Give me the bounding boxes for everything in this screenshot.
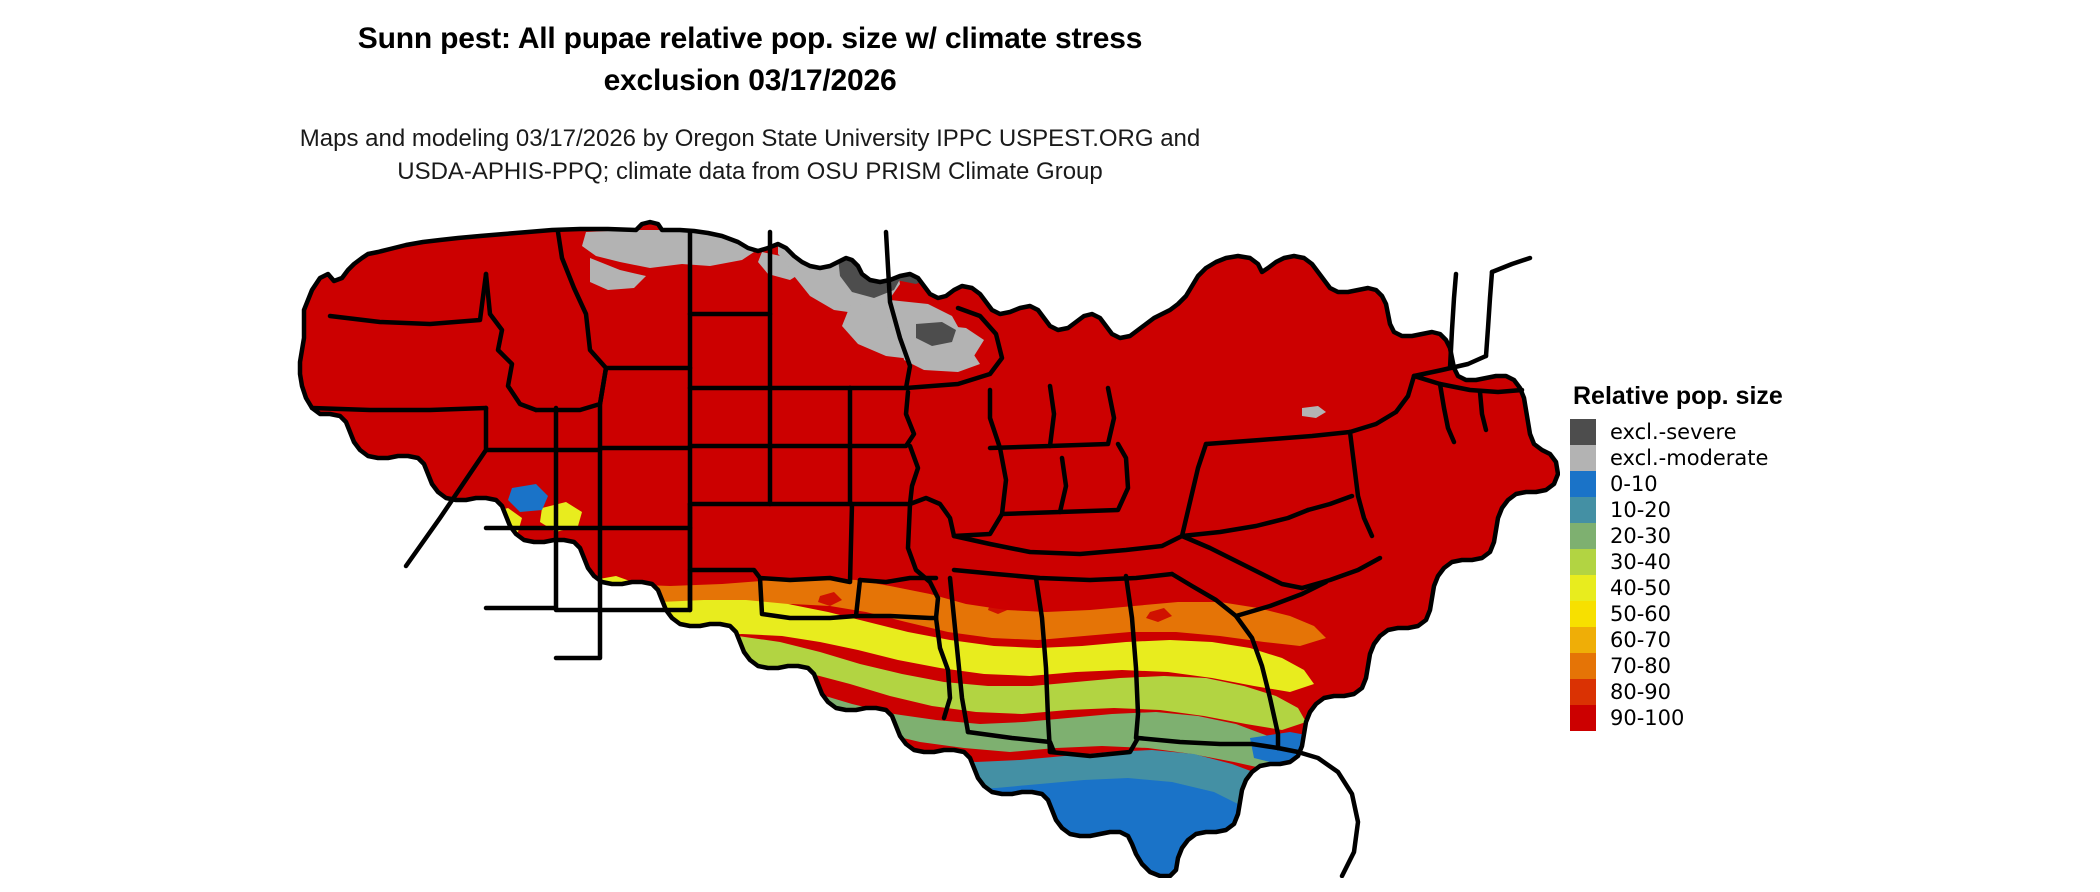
- legend-color-swatch: [1570, 627, 1596, 653]
- subtitle-line-1: Maps and modeling 03/17/2026 by Oregon S…: [0, 122, 1500, 155]
- legend-color-swatch: [1570, 419, 1596, 445]
- legend-item[interactable]: 40-50: [1570, 575, 1970, 601]
- legend-color-swatch: [1570, 575, 1596, 601]
- map-legend: Relative pop. size excl.-severeexcl.-mod…: [1570, 382, 1970, 731]
- legend-color-swatch: [1570, 653, 1596, 679]
- legend-item-label: 40-50: [1610, 575, 1671, 601]
- page-title: Sunn pest: All pupae relative pop. size …: [0, 18, 1500, 102]
- legend-color-swatch: [1570, 679, 1596, 705]
- title-line-1: Sunn pest: All pupae relative pop. size …: [0, 18, 1500, 60]
- us-choropleth-map: [290, 218, 1560, 878]
- legend-item[interactable]: 50-60: [1570, 601, 1970, 627]
- title-line-2: exclusion 03/17/2026: [0, 60, 1500, 102]
- legend-item[interactable]: excl.-severe: [1570, 419, 1970, 445]
- legend-item[interactable]: 30-40: [1570, 549, 1970, 575]
- map-canvas: [290, 218, 1560, 878]
- legend-color-swatch: [1570, 601, 1596, 627]
- legend-color-swatch: [1570, 523, 1596, 549]
- legend-item-label: 20-30: [1610, 523, 1671, 549]
- legend-item-label: 30-40: [1610, 549, 1671, 575]
- legend-item[interactable]: 10-20: [1570, 497, 1970, 523]
- legend-item-list: excl.-severeexcl.-moderate0-1010-2020-30…: [1570, 419, 1970, 731]
- legend-title: Relative pop. size: [1573, 382, 1970, 411]
- legend-item-label: 90-100: [1610, 705, 1684, 731]
- legend-item-label: excl.-severe: [1610, 419, 1737, 445]
- legend-item-label: 10-20: [1610, 497, 1671, 523]
- legend-color-swatch: [1570, 471, 1596, 497]
- map-attribution: Maps and modeling 03/17/2026 by Oregon S…: [0, 122, 1500, 188]
- legend-item-label: 70-80: [1610, 653, 1671, 679]
- legend-item[interactable]: 90-100: [1570, 705, 1970, 731]
- legend-item-label: 60-70: [1610, 627, 1671, 653]
- map-page: Sunn pest: All pupae relative pop. size …: [0, 0, 2100, 892]
- legend-item-label: excl.-moderate: [1610, 445, 1768, 471]
- legend-item[interactable]: 60-70: [1570, 627, 1970, 653]
- subtitle-line-2: USDA-APHIS-PPQ; climate data from OSU PR…: [0, 155, 1500, 188]
- legend-item-label: 0-10: [1610, 471, 1658, 497]
- legend-color-swatch: [1570, 497, 1596, 523]
- legend-item[interactable]: 0-10: [1570, 471, 1970, 497]
- legend-item[interactable]: 70-80: [1570, 653, 1970, 679]
- legend-color-swatch: [1570, 549, 1596, 575]
- legend-item-label: 50-60: [1610, 601, 1671, 627]
- legend-item[interactable]: 80-90: [1570, 679, 1970, 705]
- legend-item[interactable]: excl.-moderate: [1570, 445, 1970, 471]
- legend-color-swatch: [1570, 705, 1596, 731]
- legend-item[interactable]: 20-30: [1570, 523, 1970, 549]
- legend-item-label: 80-90: [1610, 679, 1671, 705]
- legend-color-swatch: [1570, 445, 1596, 471]
